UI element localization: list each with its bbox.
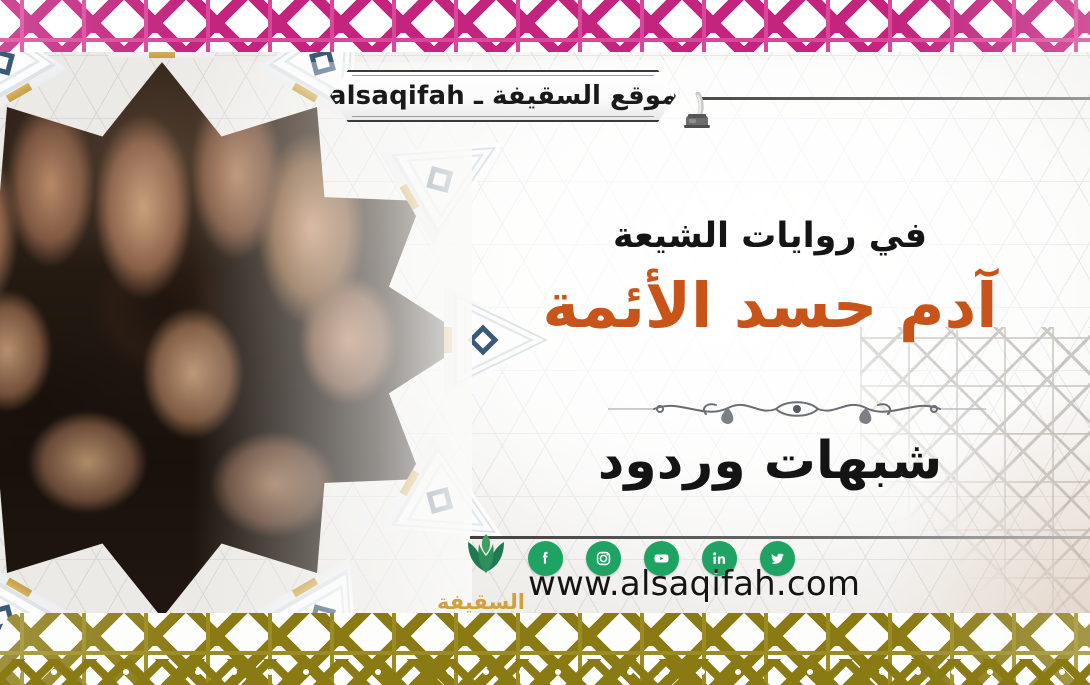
site-badge-label: موقع السقيفة ـ alsaqifah bbox=[329, 81, 677, 111]
flourish-ornament bbox=[608, 392, 986, 426]
inkwell-quill-icon bbox=[678, 92, 718, 130]
subtitle-text: شبهات وردود bbox=[560, 432, 980, 490]
star-point-gold-accent bbox=[439, 327, 452, 353]
top-pattern-band bbox=[0, 0, 1090, 52]
brand-name-label: السقيفة bbox=[447, 590, 525, 614]
kicker-text: في روايات الشيعة bbox=[560, 216, 980, 256]
tulip-logo-icon bbox=[460, 530, 512, 582]
page-title: آدم حسد الأئمة bbox=[540, 272, 1000, 340]
footer-rule bbox=[470, 536, 1090, 539]
website-url[interactable]: www.alsaqifah.com bbox=[528, 564, 860, 604]
bottom-pattern-band bbox=[0, 613, 1090, 685]
star-frame-points bbox=[0, 62, 472, 618]
photo-star-frame bbox=[0, 62, 472, 618]
brand-logo: السقيفة bbox=[447, 528, 525, 620]
bottom-band-arrow-row bbox=[0, 659, 1090, 685]
top-band-motif bbox=[0, 0, 1090, 52]
header-rule bbox=[700, 97, 1090, 100]
site-badge[interactable]: موقع السقيفة ـ alsaqifah bbox=[330, 70, 676, 122]
poster-canvas: موقع السقيفة ـ alsaqifah في روايات الشيع… bbox=[0, 0, 1090, 685]
